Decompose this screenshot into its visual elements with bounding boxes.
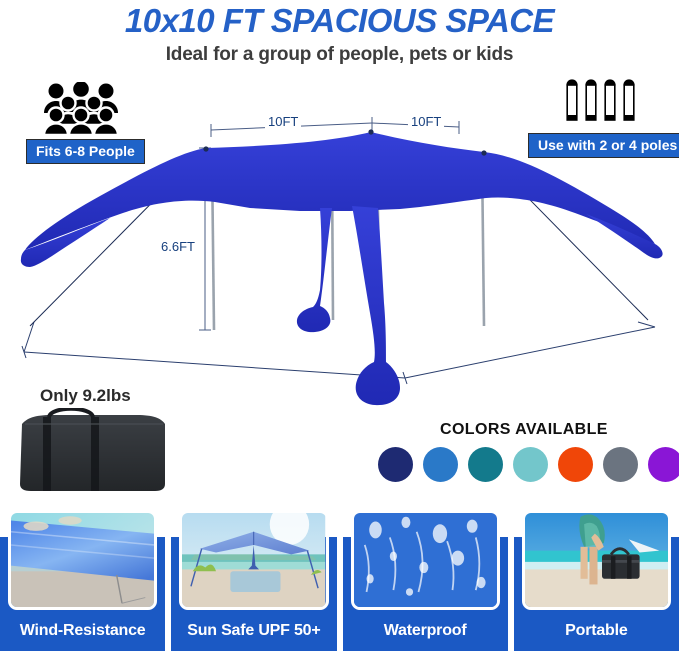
color-swatch-teal[interactable] <box>468 447 503 482</box>
dimension-label-width-left: 10FT <box>265 114 301 129</box>
page-title: 10x10 FT SPACIOUS SPACE <box>0 2 679 40</box>
feature-wind-resistance: Wind-Resistance <box>0 537 165 651</box>
dimension-label-width-right: 10FT <box>408 114 444 129</box>
feature-sun-safe: Sun Safe UPF 50+ <box>171 537 336 651</box>
page-subtitle: Ideal for a group of people, pets or kid… <box>0 44 679 66</box>
product-infographic: 10x10 FT SPACIOUS SPACE Ideal for a grou… <box>0 0 679 651</box>
canopy-fabric <box>21 132 663 405</box>
feature-label-sun-safe: Sun Safe UPF 50+ <box>171 622 336 640</box>
color-swatch-purple[interactable] <box>648 447 679 482</box>
carry-bag-icon <box>15 408 170 494</box>
feature-portable: Portable <box>514 537 679 651</box>
ground-outline <box>24 322 655 378</box>
bag-weight-label: Only 9.2lbs <box>40 386 131 406</box>
feature-label-waterproof: Waterproof <box>343 622 508 640</box>
feature-photo-sun-safe <box>179 510 328 610</box>
feature-photo-waterproof <box>351 510 500 610</box>
feature-panel-row: Wind-Resistance <box>0 537 679 651</box>
feature-photo-portable <box>522 510 671 610</box>
color-swatch-list <box>378 447 668 485</box>
feature-label-portable: Portable <box>514 622 679 640</box>
color-swatch-orange[interactable] <box>558 447 593 482</box>
color-swatch-light-teal[interactable] <box>513 447 548 482</box>
dimension-label-height: 6.6FT <box>158 239 198 254</box>
feature-photo-wind-resistance <box>8 510 157 610</box>
canopy-illustration <box>0 108 679 408</box>
feature-waterproof: Waterproof <box>343 537 508 651</box>
color-swatch-blue[interactable] <box>423 447 458 482</box>
feature-label-wind-resistance: Wind-Resistance <box>0 622 165 640</box>
color-swatch-grey[interactable] <box>603 447 638 482</box>
colors-available-title: COLORS AVAILABLE <box>440 421 608 439</box>
color-swatch-navy[interactable] <box>378 447 413 482</box>
